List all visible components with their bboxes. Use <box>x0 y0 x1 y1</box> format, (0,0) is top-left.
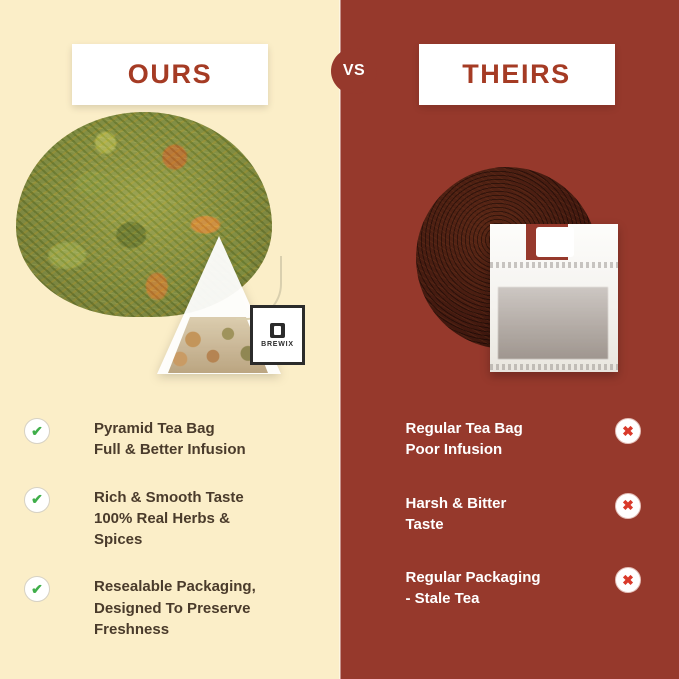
header-label-ours: OURS <box>128 59 212 90</box>
feature-text: Harsh & BitterTaste <box>406 493 507 536</box>
header-label-theirs: THEIRS <box>462 59 571 90</box>
check-icon: ✔ <box>24 418 50 444</box>
tea-bag-seam-bottom <box>490 364 618 370</box>
comparison-graphic: BREWIX OURS ✔ Pyramid Tea BagFull & Bett… <box>0 0 679 679</box>
feature-text: Regular Packaging- Stale Tea <box>406 567 541 610</box>
check-icon: ✔ <box>24 487 50 513</box>
feature-text: Regular Tea BagPoor Infusion <box>406 418 523 461</box>
brand-tag-label: BREWIX <box>261 341 294 348</box>
panel-ours: BREWIX OURS ✔ Pyramid Tea BagFull & Bett… <box>0 0 340 679</box>
header-plate-ours: OURS <box>72 44 268 105</box>
feature-list-ours: ✔ Pyramid Tea BagFull & Better Infusion … <box>0 418 340 666</box>
feature-text: Pyramid Tea BagFull & Better Infusion <box>94 418 246 461</box>
cross-icon: ✖ <box>615 493 641 519</box>
feature-row: Regular Packaging- Stale Tea ✖ <box>340 567 679 610</box>
cross-icon: ✖ <box>615 567 641 593</box>
brand-tag: BREWIX <box>250 305 305 365</box>
panel-divider <box>339 0 341 679</box>
feature-row: ✔ Pyramid Tea BagFull & Better Infusion <box>0 418 340 461</box>
check-icon: ✔ <box>24 576 50 602</box>
feature-row: Harsh & BitterTaste ✖ <box>340 493 679 536</box>
tea-bag-fill <box>498 287 608 359</box>
feature-text: Resealable Packaging,Designed To Preserv… <box>94 576 256 640</box>
feature-row: Regular Tea BagPoor Infusion ✖ <box>340 418 679 461</box>
feature-row: ✔ Resealable Packaging,Designed To Prese… <box>0 576 340 640</box>
vs-badge: VS <box>331 48 377 94</box>
cross-icon: ✖ <box>615 418 641 444</box>
feature-list-theirs: Regular Tea BagPoor Infusion ✖ Harsh & B… <box>340 418 679 636</box>
feature-row: ✔ Rich & Smooth Taste100% Real Herbs &Sp… <box>0 487 340 551</box>
feature-text: Rich & Smooth Taste100% Real Herbs &Spic… <box>94 487 244 551</box>
panel-theirs: THEIRS Regular Tea BagPoor Infusion ✖ Ha… <box>340 0 679 679</box>
brand-logo-icon <box>270 323 285 338</box>
tea-bag-tab <box>536 227 574 257</box>
header-plate-theirs: THEIRS <box>419 44 615 105</box>
tea-bag-seam-top <box>490 262 618 268</box>
